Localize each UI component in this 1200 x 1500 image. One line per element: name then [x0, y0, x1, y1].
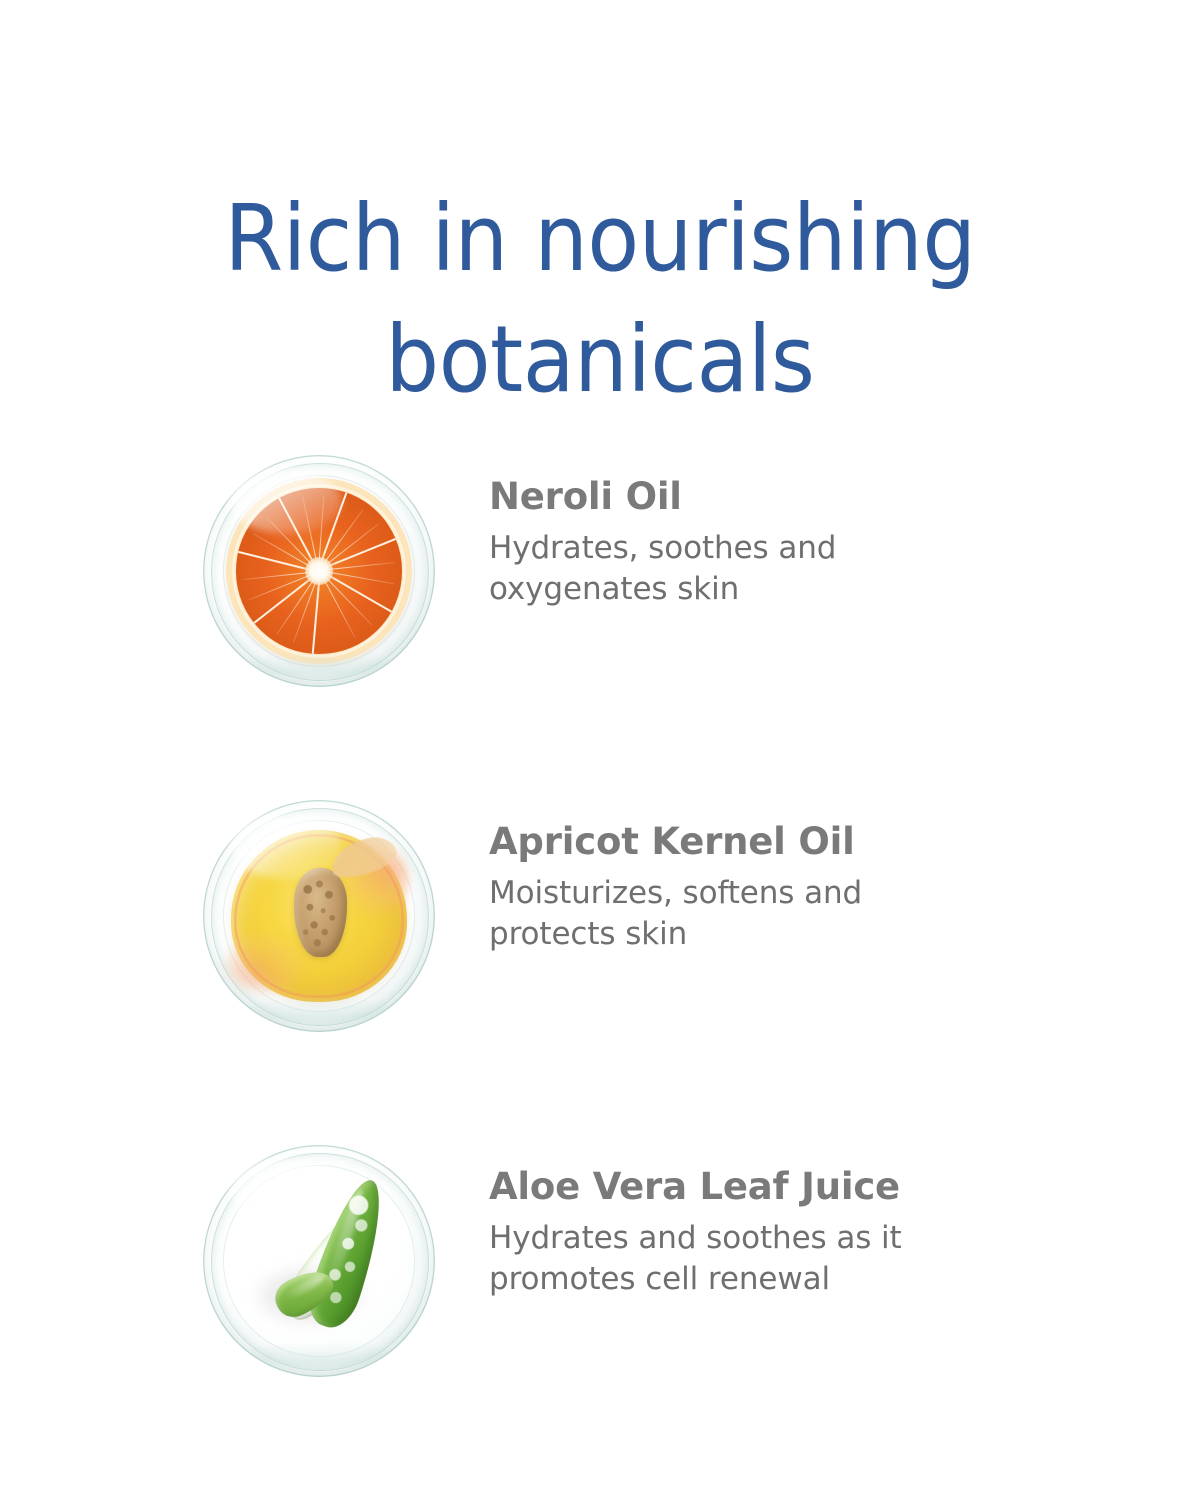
dish-gloss	[231, 469, 342, 534]
ingredient-image-neroli-oil	[203, 455, 435, 687]
ingredient-image-apricot-kernel-oil	[203, 800, 435, 1032]
ingredient-description: Hydrates and soothes as it promotes cell…	[489, 1218, 1049, 1300]
ingredient-name: Aloe Vera Leaf Juice	[489, 1167, 1049, 1206]
dish-lower-gloss	[249, 1343, 388, 1366]
ingredient-list: Neroli Oil Hydrates, soothes and oxygena…	[0, 455, 1200, 1490]
ingredient-description: Hydrates, soothes and oxygenates skin	[489, 528, 1049, 610]
dish-gloss	[231, 1159, 342, 1224]
infographic-page: Rich in nourishing botanicals	[0, 0, 1200, 1500]
dish-lower-gloss	[249, 653, 388, 676]
ingredient-image-aloe-vera-leaf-juice	[203, 1145, 435, 1377]
ingredient-name: Apricot Kernel Oil	[489, 822, 1049, 861]
page-title: Rich in nourishing botanicals	[48, 178, 1152, 421]
glass-dish-icon	[203, 455, 435, 687]
ingredient-name: Neroli Oil	[489, 477, 1049, 516]
kernel-texture	[294, 868, 347, 957]
dish-gloss	[231, 814, 342, 879]
list-item: Aloe Vera Leaf Juice Hydrates and soothe…	[0, 1145, 1200, 1490]
ingredient-copy: Apricot Kernel Oil Moisturizes, softens …	[489, 822, 1049, 956]
list-item: Apricot Kernel Oil Moisturizes, softens …	[0, 800, 1200, 1145]
apricot-kernel	[294, 868, 347, 957]
ingredient-description: Moisturizes, softens and protects skin	[489, 873, 1049, 955]
orange-core	[305, 557, 333, 585]
ingredient-copy: Aloe Vera Leaf Juice Hydrates and soothe…	[489, 1167, 1049, 1301]
glass-dish-icon	[203, 800, 435, 1032]
ingredient-copy: Neroli Oil Hydrates, soothes and oxygena…	[489, 477, 1049, 611]
list-item: Neroli Oil Hydrates, soothes and oxygena…	[0, 455, 1200, 800]
dish-lower-gloss	[249, 998, 388, 1021]
glass-dish-icon	[203, 1145, 435, 1377]
